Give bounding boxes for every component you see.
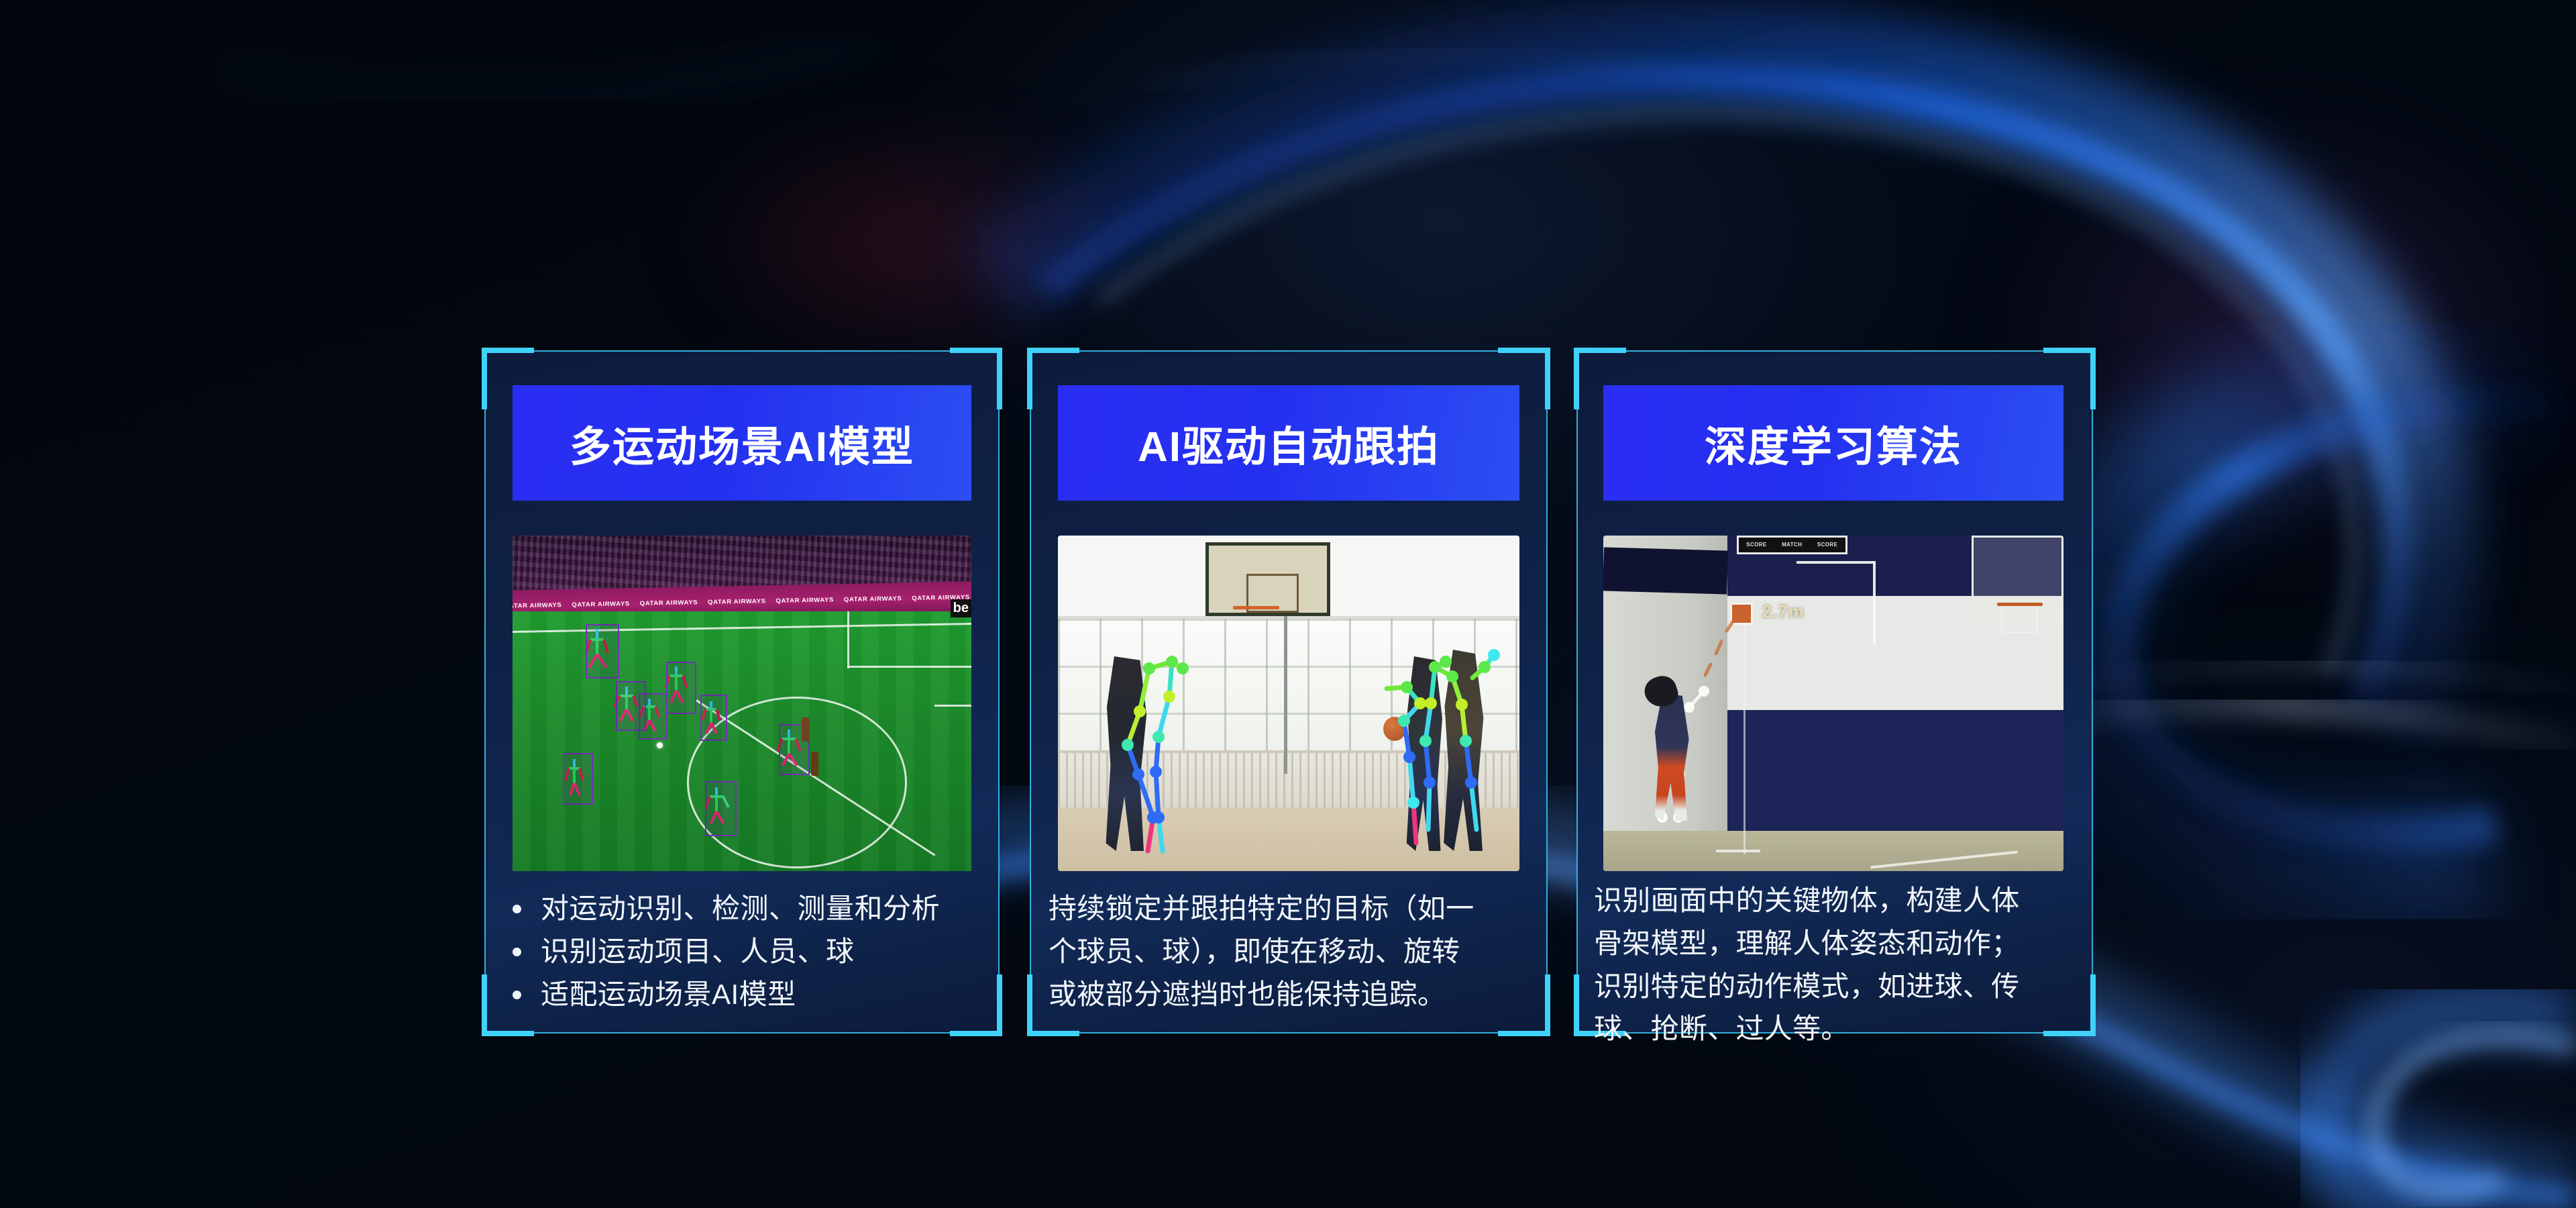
card-multi-sport-ai-model[interactable]: 多运动场景AI模型 QATAR AIRWAYS QATAR AIRWAYS QA…: [484, 350, 1000, 1034]
card-body-multi-sport: 对运动识别、检测、测量和分析 识别运动项目、人员、球 适配运动场景AI模型: [503, 887, 985, 1015]
detection-box: [705, 781, 737, 836]
card-frame-top: [1576, 350, 2093, 352]
card-header-multi-sport[interactable]: 多运动场景AI模型: [513, 385, 971, 501]
card-frame-left: [1576, 350, 1578, 1034]
ad-banner-text: QATAR AIRWAYS: [572, 600, 630, 608]
card-frame-bottom: [484, 1032, 1000, 1034]
detection-box: [639, 693, 667, 740]
card-frame-left: [484, 350, 486, 1034]
card-title: 深度学习算法: [1705, 413, 1962, 473]
opponent-player: [811, 752, 818, 776]
ad-banner-text: QATAR AIRWAYS: [775, 596, 834, 604]
card-deep-learning-algorithm[interactable]: 深度学习算法 SCORE MATCH SCORE 2.7m: [1576, 350, 2093, 1034]
feature-bullet-list: 对运动识别、检测、测量和分析 识别运动项目、人员、球 适配运动场景AI模型: [503, 887, 985, 1015]
detection-box: [779, 724, 810, 775]
sponsor-overlay-bet: be: [951, 599, 971, 617]
ad-banner-text: QATAR AIRWAYS: [640, 599, 698, 607]
detection-box: [586, 624, 619, 678]
basketball-gym-pose-preview[interactable]: [1058, 536, 1519, 871]
paragraph-line: 或被部分遮挡时也能保持追踪。: [1049, 973, 1533, 1016]
pose-skeleton-overlay: [513, 611, 971, 872]
soccer-pitch-scene: QATAR AIRWAYS QATAR AIRWAYS QATAR AIRWAY…: [513, 536, 971, 871]
indoor-court-scene: SCORE MATCH SCORE 2.7m: [1603, 536, 2063, 871]
card-ai-auto-tracking[interactable]: AI驱动自动跟拍: [1030, 350, 1548, 1034]
card-header-deep-learning[interactable]: 深度学习算法: [1603, 385, 2063, 501]
paragraph-line: 持续锁定并跟拍特定的目标（如一: [1049, 887, 1533, 930]
card-title: AI驱动自动跟拍: [1138, 413, 1440, 473]
soccer-ball: [657, 742, 663, 748]
shot-measurement-preview[interactable]: SCORE MATCH SCORE 2.7m: [1603, 536, 2063, 871]
card-body-deep-learning: 识别画面中的关键物体，构建人体 骨架模型，理解人体姿态和动作； 识别特定的动作模…: [1594, 879, 2078, 1050]
card-frame-right: [998, 350, 1000, 1034]
opponent-player: [802, 717, 809, 742]
pitch-centre-arc: [687, 697, 907, 868]
pose-skeleton-overlay: [1058, 536, 1519, 871]
gym-scene: [1058, 536, 1519, 871]
detection-box: [563, 753, 592, 805]
list-item: 适配运动场景AI模型: [503, 973, 985, 1016]
card-title: 多运动场景AI模型: [570, 413, 914, 473]
detection-box: [666, 662, 696, 714]
ad-banner-text: QATAR AIRWAYS: [708, 597, 766, 605]
card-frame-bottom: [1030, 1032, 1548, 1034]
paragraph-line: 球、抢断、过人等。: [1594, 1007, 2078, 1050]
card-frame-left: [1030, 350, 1031, 1034]
detection-box: [700, 695, 727, 742]
pitch-line-box-vertical: [847, 611, 849, 668]
ad-banner-text: QATAR AIRWAYS: [844, 595, 902, 603]
ad-banner-text: QATAR AIRWAYS: [513, 601, 562, 609]
card-header-ai-auto-tracking[interactable]: AI驱动自动跟拍: [1058, 385, 1519, 501]
pitch-line-goal-area: [934, 705, 971, 707]
paragraph-line: 识别画面中的关键物体，构建人体: [1594, 879, 2078, 922]
paragraph-line: 个球员、球），即使在移动、旋转: [1049, 930, 1533, 973]
list-item: 识别运动项目、人员、球: [503, 930, 985, 973]
soccer-pitch-detection-preview[interactable]: QATAR AIRWAYS QATAR AIRWAYS QATAR AIRWAY…: [513, 536, 971, 871]
pitch-grass: [513, 611, 971, 872]
list-item: 对运动识别、检测、测量和分析: [503, 887, 985, 930]
pitch-line-top: [513, 623, 971, 633]
detection-box: [616, 681, 646, 731]
card-frame-top: [484, 350, 1000, 352]
paragraph-line: 识别特定的动作模式，如进球、传: [1594, 965, 2078, 1008]
pitch-line-box-horizontal: [847, 666, 971, 668]
pitch-line-diagonal: [696, 699, 935, 856]
card-frame-right: [2092, 350, 2093, 1034]
card-frame-right: [1546, 350, 1548, 1034]
card-body-ai-auto-tracking: 持续锁定并跟拍特定的目标（如一 个球员、球），即使在移动、旋转 或被部分遮挡时也…: [1049, 887, 1533, 1015]
paragraph-line: 骨架模型，理解人体姿态和动作；: [1594, 922, 2078, 965]
card-frame-top: [1030, 350, 1548, 352]
